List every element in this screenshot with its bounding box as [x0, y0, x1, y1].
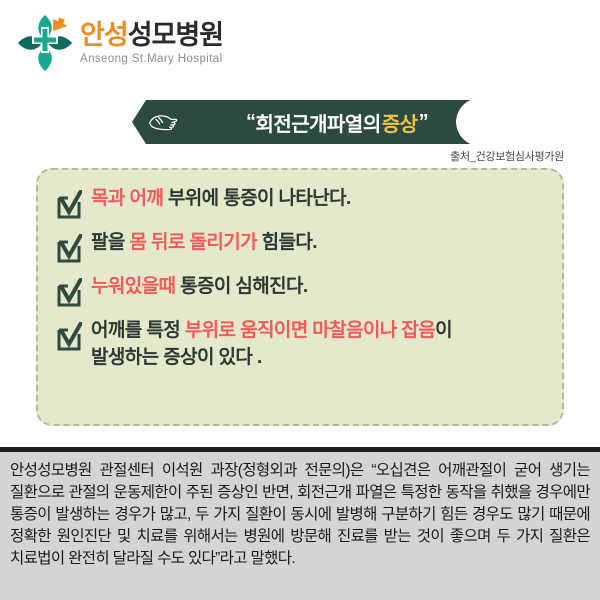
symptom-highlight: 부위로 움직이면 마찰음이나 잡음: [185, 320, 435, 341]
banner-title: “ 회전근개파열의 증상”: [194, 100, 480, 144]
symptom-text: 누워있을때 통증이 심해진다.: [91, 274, 548, 301]
top-white-panel: 안성성모병원 Anseong St.Mary Hospital: [0, 0, 600, 447]
symptom-plain: 팔을: [91, 232, 129, 253]
symptom-plain: 어깨를 특정: [91, 320, 185, 341]
checkbox-checked-icon: [56, 322, 82, 352]
symptom-list-box: 목과 어깨 부위에 통증이 나타난다.팔을 몸 뒤로 돌리기가 힘들다.누워있을…: [36, 168, 564, 426]
symptom-item: 목과 어깨 부위에 통증이 나타난다.: [56, 186, 548, 220]
symptom-text: 어깨를 특정 부위로 움직이면 마찰음이나 잡음이발생하는 증상이 있다 .: [91, 318, 548, 372]
symptom-plain: 통증이 심해진다.: [175, 276, 307, 297]
banner-title-highlight: 증상: [382, 108, 418, 137]
checkbox-checked-icon: [56, 234, 82, 264]
symptom-text: 목과 어깨 부위에 통증이 나타난다.: [91, 186, 548, 213]
symptom-plain: 부위에 통증이 나타난다.: [163, 188, 351, 209]
checkbox-checked-icon: [56, 278, 82, 308]
symptom-line: 팔을 몸 뒤로 돌리기가 힘들다.: [91, 230, 548, 257]
symptom-plain: 힘들다.: [257, 232, 317, 253]
checkbox-checked-icon: [56, 190, 82, 220]
symptom-text: 팔을 몸 뒤로 돌리기가 힘들다.: [91, 230, 548, 257]
symptom-line: 어깨를 특정 부위로 움직이면 마찰음이나 잡음이: [91, 318, 548, 345]
infographic-page: 안성성모병원 Anseong St.Mary Hospital: [0, 0, 600, 600]
symptom-item: 팔을 몸 뒤로 돌리기가 힘들다.: [56, 230, 548, 264]
symptom-plain: 이: [435, 320, 452, 341]
footer-paragraph: 안성성모병원 관절센터 이석원 과장(정형외과 전문의)은 “오십견은 어깨관절…: [10, 460, 590, 570]
logo-text-block: 안성성모병원 Anseong St.Mary Hospital: [80, 21, 223, 64]
footer-panel: 안성성모병원 관절센터 이석원 과장(정형외과 전문의)은 “오십견은 어깨관절…: [0, 452, 600, 600]
symptom-line: 목과 어깨 부위에 통증이 나타난다.: [91, 186, 548, 213]
logo-cross-icon: [14, 12, 76, 74]
logo-title-dark: 성모병원: [128, 20, 223, 50]
symptom-line: 누워있을때 통증이 심해진다.: [91, 274, 548, 301]
symptom-plain: 발생하는 증상이 있다 .: [91, 347, 262, 368]
banner-title-main: 회전근개파열의: [255, 108, 380, 137]
symptom-highlight: 몸 뒤로 돌리기가: [129, 232, 257, 253]
symptom-item: 누워있을때 통증이 심해진다.: [56, 274, 548, 308]
title-banner: “ 회전근개파열의 증상”: [132, 100, 480, 144]
symptom-item: 어깨를 특정 부위로 움직이면 마찰음이나 잡음이발생하는 증상이 있다 .: [56, 318, 548, 372]
logo-subtitle: Anseong St.Mary Hospital: [80, 53, 223, 65]
source-label: 출처_건강보험심사평가원: [450, 148, 564, 164]
pointing-hand-icon: [148, 111, 178, 133]
symptom-highlight: 누워있을때: [91, 276, 175, 297]
symptom-highlight: 목과 어깨: [91, 188, 163, 209]
hospital-logo[interactable]: 안성성모병원 Anseong St.Mary Hospital: [14, 12, 223, 74]
banner-quote-open: “: [246, 111, 256, 134]
banner-quote-close: ”: [419, 111, 429, 134]
logo-title: 안성성모병원: [80, 21, 223, 49]
symptom-line: 발생하는 증상이 있다 .: [91, 345, 548, 372]
logo-title-orange: 안성: [80, 20, 128, 50]
